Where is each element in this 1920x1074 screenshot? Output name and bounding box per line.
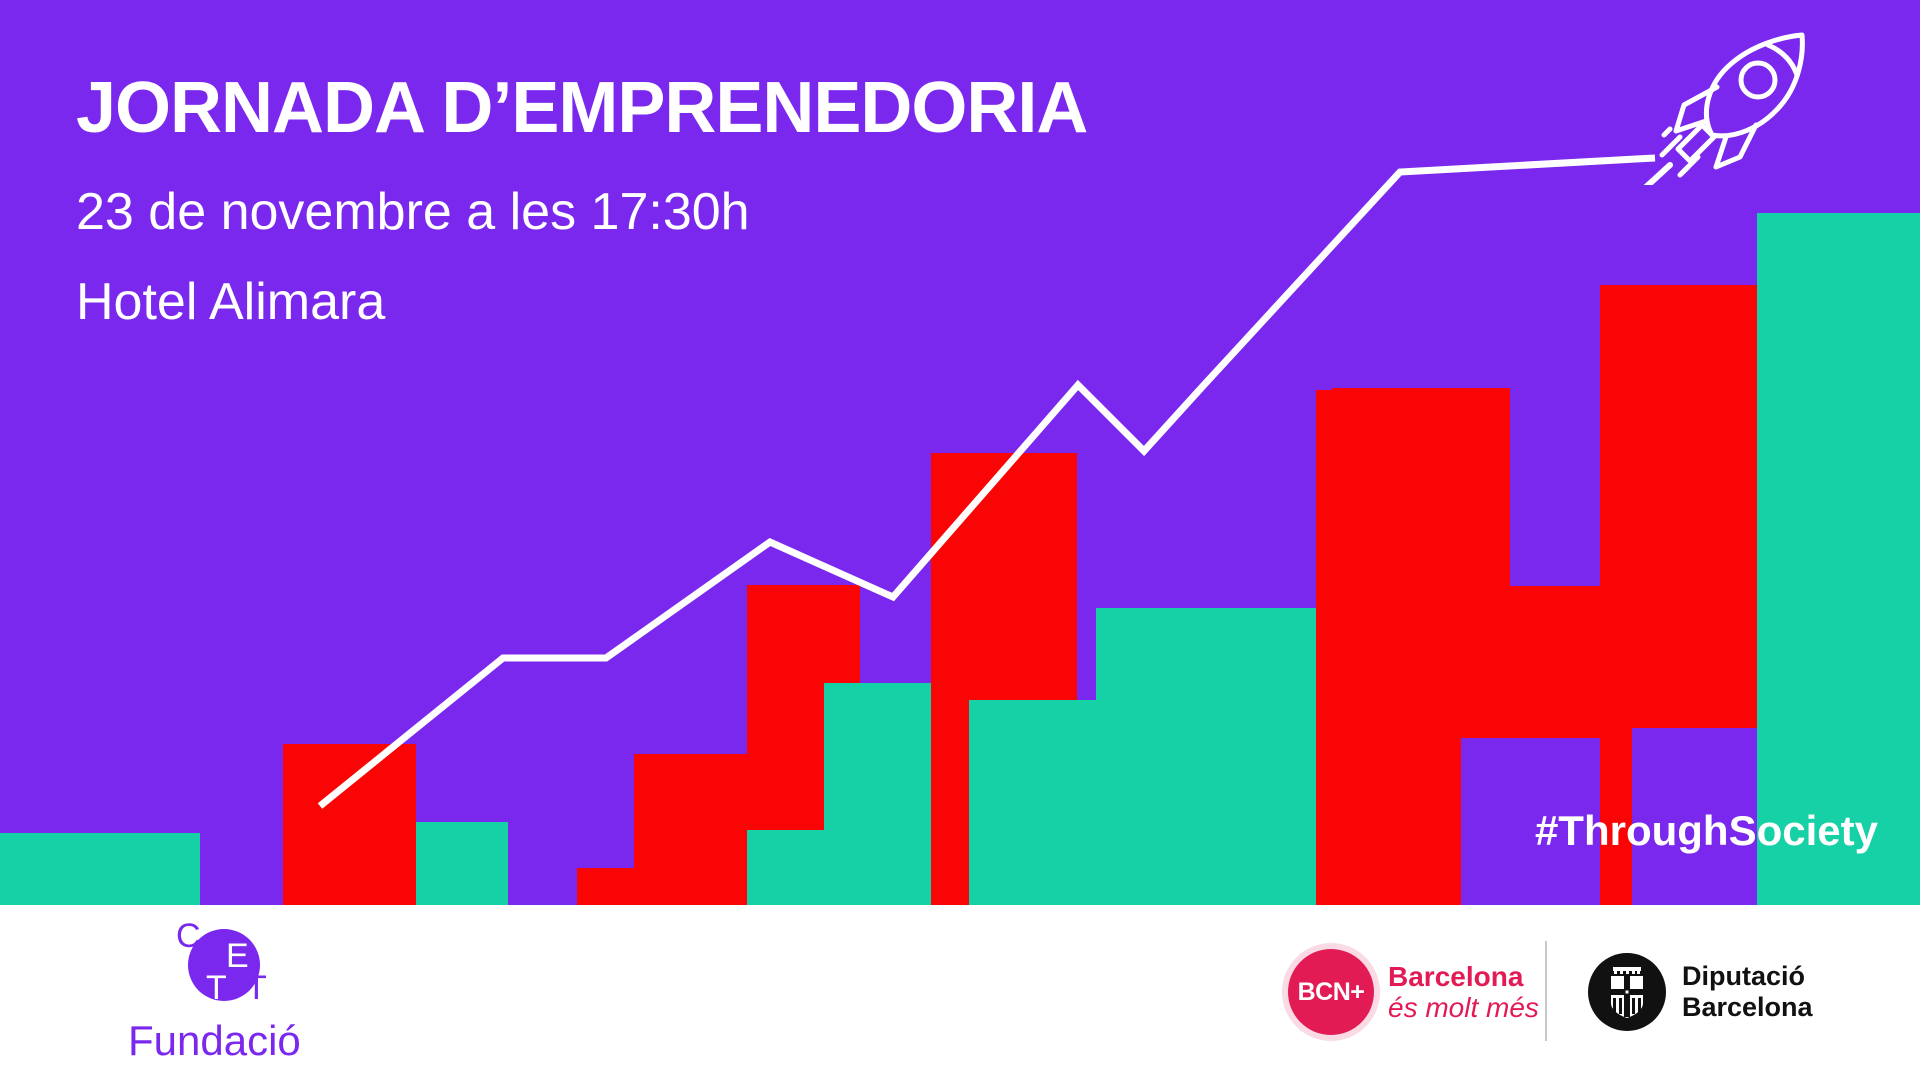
headline-block: JORNADA D’EMPRENEDORIA 23 de novembre a …	[76, 72, 1087, 328]
event-datetime: 23 de novembre a les 17:30h	[76, 186, 1087, 238]
chart-bar	[1757, 213, 1920, 905]
cett-wordmark: Fundació	[128, 1017, 358, 1065]
cett-monogram: C E T T	[146, 919, 286, 1011]
logo-divider	[1545, 941, 1547, 1041]
bcn-circle-badge: BCN+	[1288, 949, 1374, 1035]
poster-root: JORNADA D’EMPRENEDORIA 23 de novembre a …	[0, 0, 1920, 1074]
diputacio-crest-icon	[1588, 953, 1666, 1031]
diputacio-line-2: Barcelona	[1682, 992, 1813, 1023]
footer-bar: C E T T Fundació BCN+ Barcelona és molt …	[0, 905, 1920, 1074]
logo-barcelona-es-molt-mes: BCN+ Barcelona és molt més	[1288, 949, 1539, 1035]
rocket-icon	[1640, 25, 1830, 185]
chart-bar	[634, 754, 747, 905]
logo-cett-fundacio: C E T T Fundació	[128, 919, 358, 1064]
bcn-line-2: és molt més	[1388, 992, 1539, 1023]
logo-diputacio-barcelona: Diputació Barcelona	[1588, 953, 1813, 1031]
event-venue: Hotel Alimara	[76, 276, 1087, 328]
bcn-plus-mark: BCN+	[1298, 978, 1365, 1007]
cett-letter-t-1: T	[206, 971, 227, 1005]
diputacio-line-1: Diputació	[1682, 961, 1813, 992]
chart-bar	[416, 822, 508, 905]
cett-letter-c: C	[176, 919, 201, 953]
bcn-line-1: Barcelona	[1388, 961, 1539, 992]
chart-bar	[0, 833, 200, 905]
page-title: JORNADA D’EMPRENEDORIA	[76, 72, 1087, 144]
cett-letter-t-2: T	[246, 971, 267, 1005]
chart-bar	[969, 700, 1096, 905]
chart-bar	[283, 744, 416, 905]
diputacio-shield-shape	[1605, 965, 1649, 1019]
cett-letter-e: E	[226, 939, 249, 973]
hashtag-label: #ThroughSociety	[1535, 807, 1878, 855]
bcn-wordmark: Barcelona és molt més	[1388, 961, 1539, 1024]
poster-canvas: JORNADA D’EMPRENEDORIA 23 de novembre a …	[0, 0, 1920, 905]
diputacio-wordmark: Diputació Barcelona	[1682, 961, 1813, 1024]
